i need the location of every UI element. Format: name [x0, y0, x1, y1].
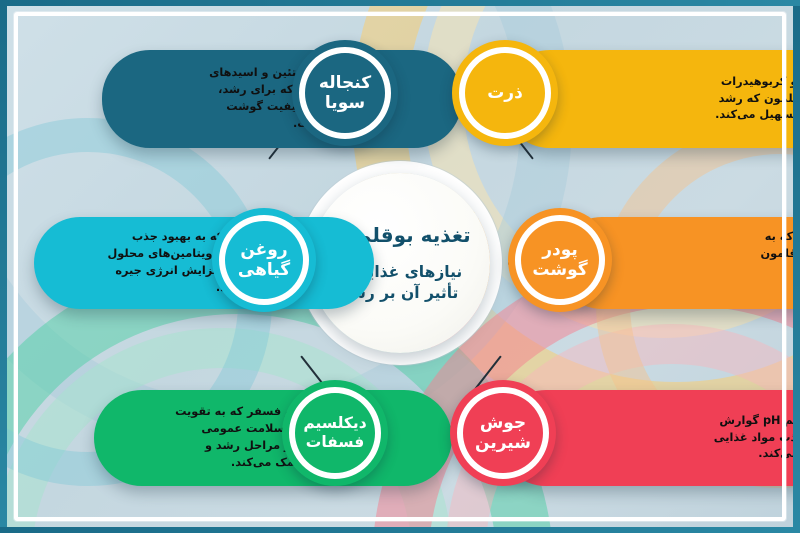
node-meat-powder-label: پودر گوشت: [532, 240, 587, 281]
node-corn[interactable]: منبع اصلی انرژی و کربوهیدرات در جیره غذا…: [452, 26, 800, 156]
frame-edge-top: [0, 0, 800, 6]
node-baking-soda-badge[interactable]: جوش شیرین: [450, 380, 556, 486]
node-corn-label: ذرت: [487, 83, 523, 103]
node-vegetable-oil[interactable]: منبع چربی که به بهبود جذب و استفاده از و…: [34, 203, 324, 323]
node-meat-powder-badge[interactable]: پودر گوشت: [508, 208, 612, 312]
node-soy[interactable]: منبع غنی پروتئین و اسیدهای آمینه ضروری ک…: [102, 26, 402, 156]
infographic-canvas: تغذیه بوقلمون نیازهای غذایی و تأثیر آن ب…: [0, 0, 800, 533]
node-soy-label: کنجاله سویا: [319, 73, 371, 114]
node-soy-badge[interactable]: کنجاله سویا: [292, 40, 398, 146]
node-baking-soda-label: جوش شیرین: [475, 413, 531, 454]
node-vegetable-oil-pill[interactable]: منبع چربی که به بهبود جذب و استفاده از و…: [34, 217, 374, 309]
frame-edge-left: [0, 0, 7, 533]
node-baking-soda-description: ماده‌ای که به تنظیم pH گوارش و بهبود هضم…: [714, 413, 800, 464]
node-dicalcium-phosphate[interactable]: منبع کلسیم و فسفر که به تقویت استخوان‌ها…: [94, 372, 394, 502]
frame-edge-bottom: [0, 527, 800, 533]
frame-edge-right: [793, 0, 800, 533]
node-vegetable-oil-label: روغن گیاهی: [238, 240, 290, 281]
node-dicalcium-phosphate-badge[interactable]: دیکلسیم فسفات: [282, 380, 388, 486]
node-meat-powder[interactable]: منبع پروتئین با کیفیت بالا که به تامین ن…: [508, 203, 800, 323]
node-soy-pill[interactable]: منبع غنی پروتئین و اسیدهای آمینه ضروری ک…: [102, 50, 462, 148]
node-dicalcium-phosphate-pill[interactable]: منبع کلسیم و فسفر که به تقویت استخوان‌ها…: [94, 390, 452, 486]
node-dicalcium-phosphate-label: دیکلسیم فسفات: [303, 414, 366, 451]
node-corn-description: منبع اصلی انرژی و کربوهیدرات در جیره غذا…: [715, 74, 800, 125]
node-baking-soda[interactable]: ماده‌ای که به تنظیم pH گوارش و بهبود هضم…: [450, 372, 800, 502]
node-vegetable-oil-badge[interactable]: روغن گیاهی: [212, 208, 316, 312]
node-corn-badge[interactable]: ذرت: [452, 40, 558, 146]
